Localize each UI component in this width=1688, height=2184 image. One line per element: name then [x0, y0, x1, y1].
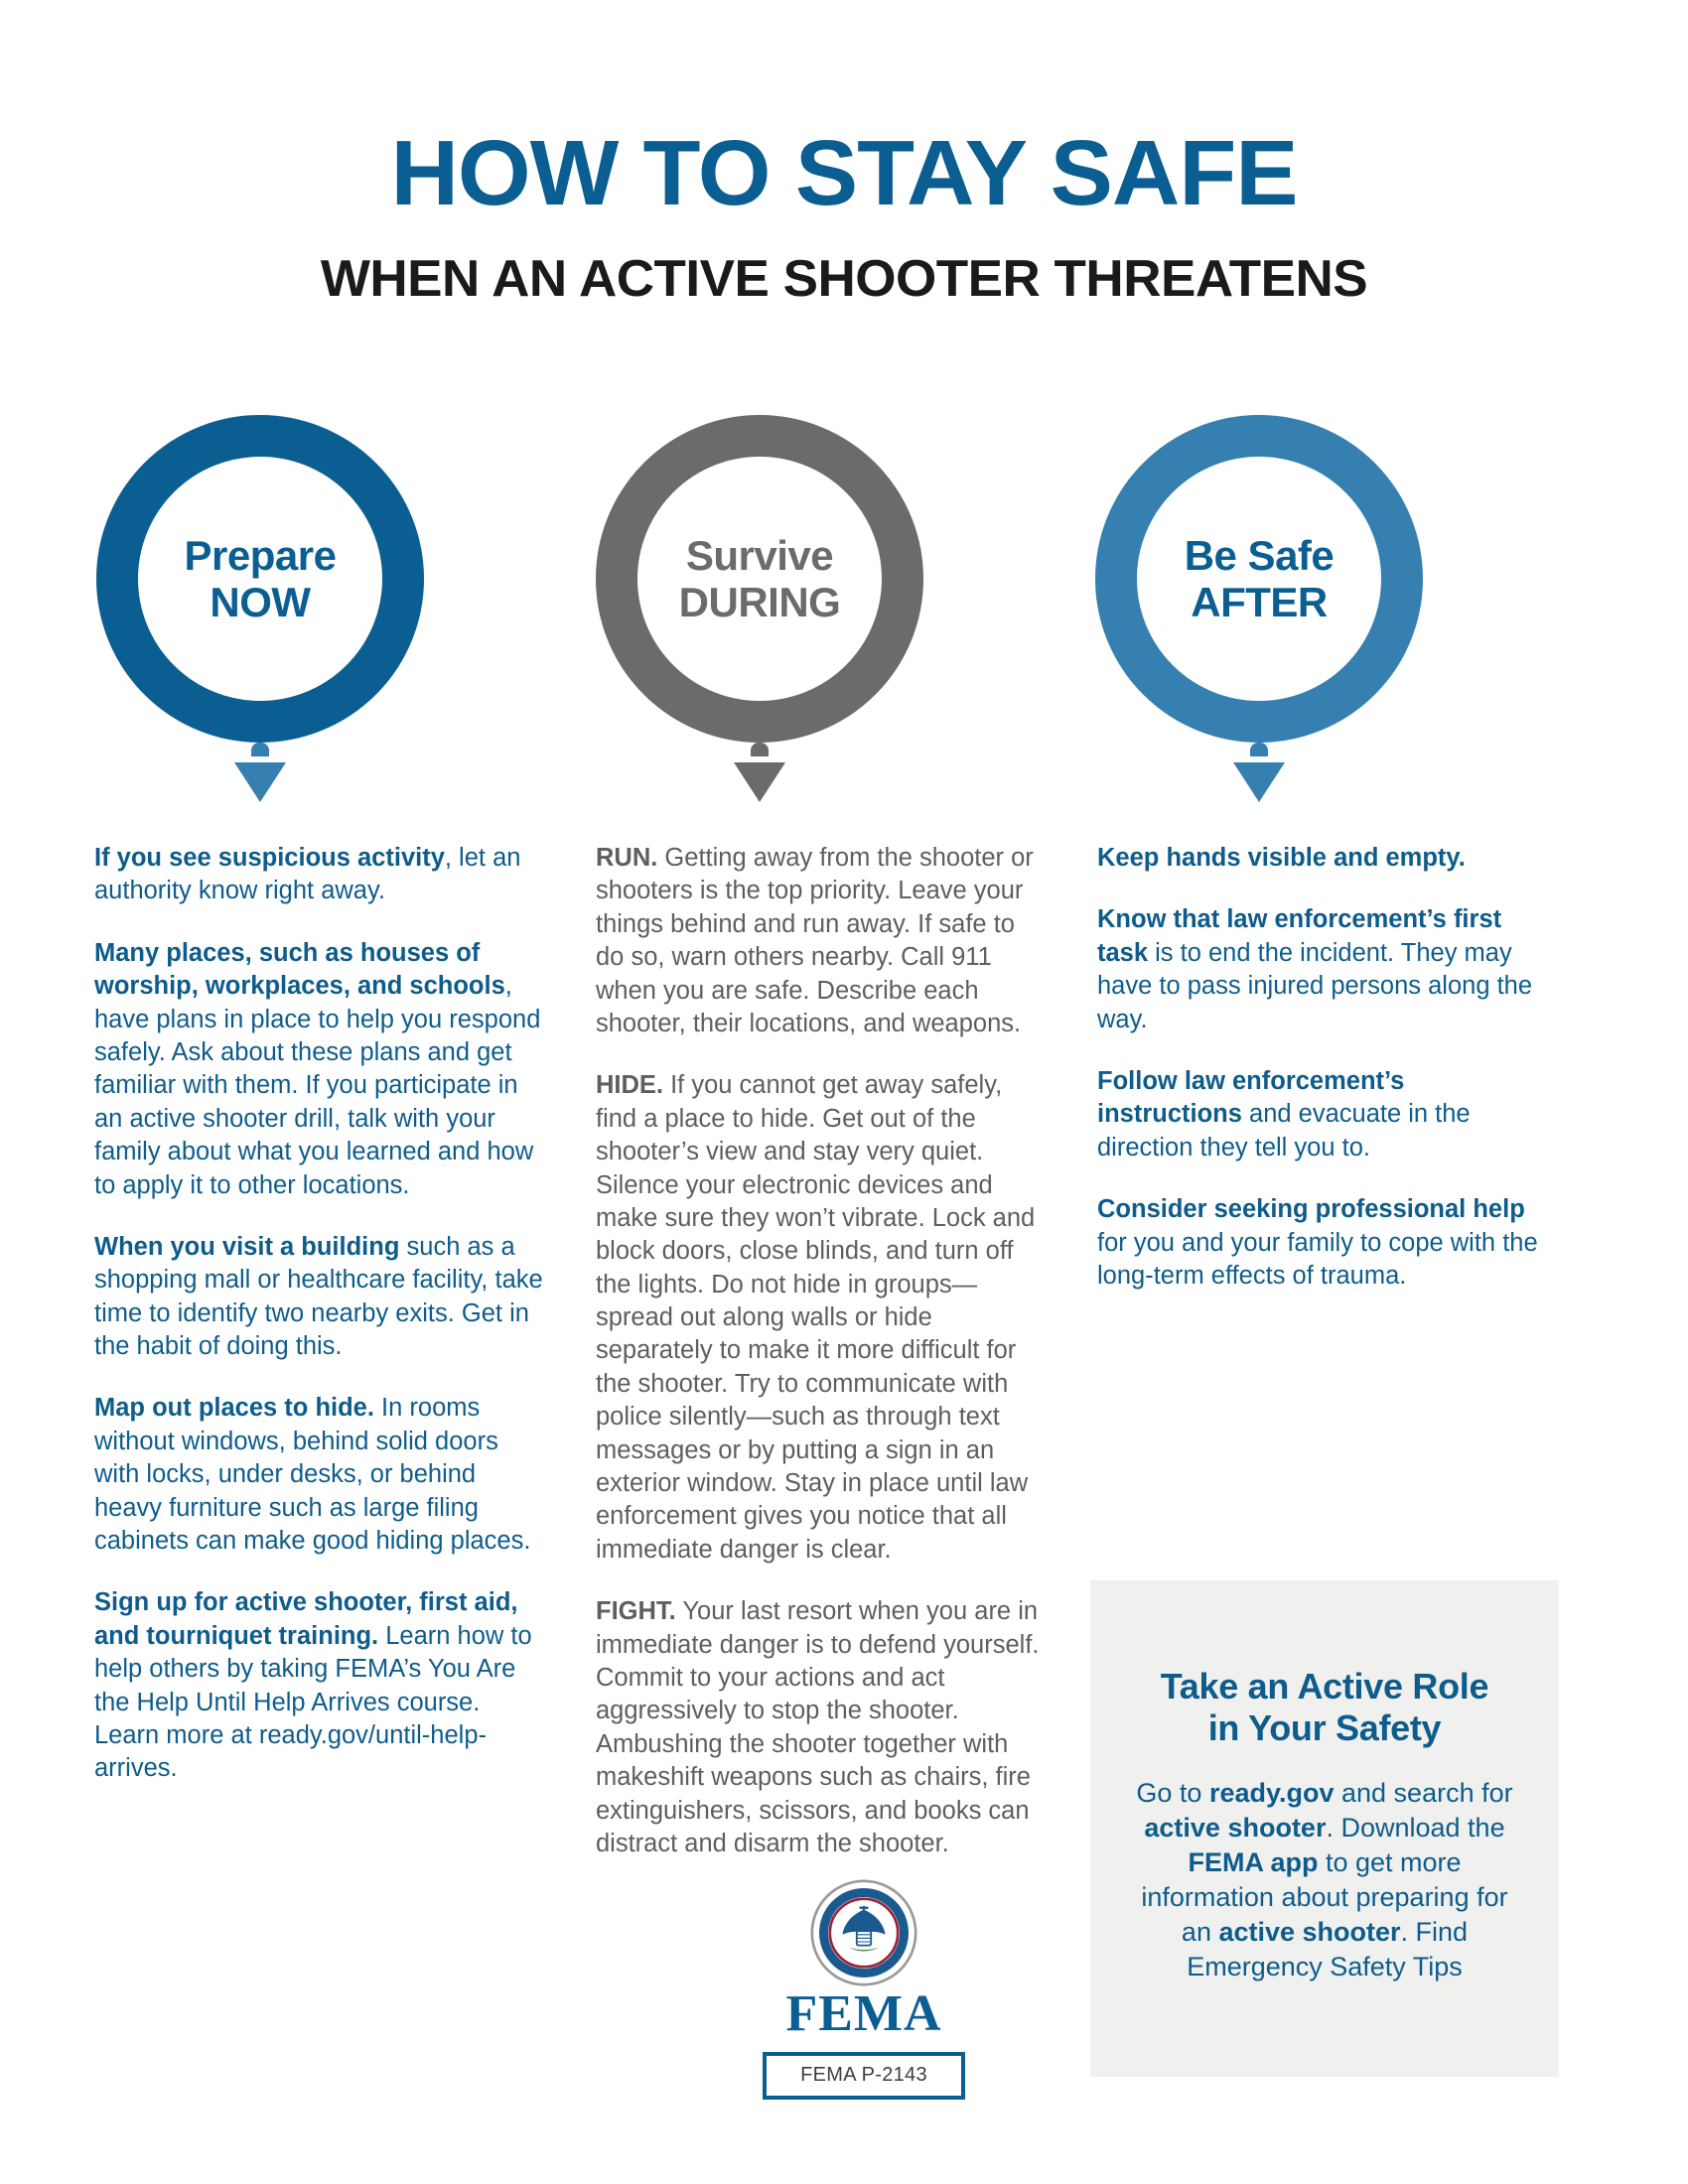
page-title: HOW TO STAY SAFE: [0, 127, 1688, 219]
paragraph: FIGHT. Your last resort when you are in …: [596, 1595, 1048, 1860]
fema-wordmark: FEMA: [695, 1988, 1033, 2040]
paragraph: When you visit a building such as a shop…: [94, 1231, 546, 1364]
stage-be-safe-after: Be Safe AFTER: [1090, 415, 1428, 802]
fema-logo-block: FEMA FEMA P-2143: [695, 1879, 1033, 2100]
callout-title-line2: in Your Safety: [1124, 1707, 1525, 1749]
callout-take-active-role: Take an Active Role in Your Safety Go to…: [1090, 1580, 1559, 2077]
paragraph: Map out places to hide. In rooms without…: [94, 1392, 546, 1558]
callout-body: Go to ready.gov and search for active sh…: [1124, 1776, 1525, 1985]
paragraph: Consider seeking professional help for y…: [1097, 1193, 1549, 1293]
page-subtitle: WHEN AN ACTIVE SHOOTER THREATENS: [0, 253, 1688, 305]
stage-circles-row: Prepare NOW Survive DURING Be Safe AFTER: [0, 415, 1688, 792]
paragraph: HIDE. If you cannot get away safely, fin…: [596, 1069, 1048, 1567]
callout-title-line1: Take an Active Role: [1161, 1666, 1488, 1706]
paragraph: Follow law enforcement’s instructions an…: [1097, 1065, 1549, 1164]
down-arrow-icon-prepare: [234, 762, 286, 802]
paragraph-lead: Many places, such as houses of worship, …: [94, 939, 505, 1000]
paragraph-lead: HIDE.: [596, 1071, 663, 1099]
circle-label-survive-line2: DURING: [679, 579, 841, 625]
circle-ring-besafe: Be Safe AFTER: [1095, 415, 1423, 743]
stage-prepare-now: Prepare NOW: [91, 415, 429, 802]
paragraph: If you see suspicious activity, let an a…: [94, 842, 546, 908]
paragraph-lead: If you see suspicious activity: [94, 844, 445, 872]
paragraph-lead: When you visit a building: [94, 1233, 399, 1261]
circle-label-prepare-line2: NOW: [185, 579, 337, 625]
paragraph-body: Your last resort when you are in immedia…: [596, 1597, 1040, 1857]
circle-ring-survive: Survive DURING: [596, 415, 923, 743]
paragraph-body: If you cannot get away safely, find a pl…: [596, 1071, 1035, 1563]
arrow-nub-prepare: [251, 743, 269, 756]
callout-emphasis: FEMA app: [1188, 1847, 1318, 1877]
callout-emphasis: ready.gov: [1209, 1778, 1335, 1808]
paragraph-lead: Keep hands visible and empty.: [1097, 844, 1466, 872]
paragraph: RUN. Getting away from the shooter or sh…: [596, 842, 1048, 1040]
paragraph-lead: Consider seeking professional help: [1097, 1195, 1525, 1223]
column-be-safe-after: Keep hands visible and empty.Know that l…: [1097, 842, 1549, 1321]
circle-ring-prepare: Prepare NOW: [96, 415, 424, 743]
column-survive-during: RUN. Getting away from the shooter or sh…: [596, 842, 1048, 1889]
callout-title: Take an Active Role in Your Safety: [1124, 1666, 1525, 1750]
circle-label-besafe-line1: Be Safe: [1185, 532, 1335, 579]
paragraph-lead: RUN.: [596, 844, 657, 872]
circle-label-besafe-line2: AFTER: [1185, 579, 1335, 625]
paragraph: Many places, such as houses of worship, …: [94, 937, 546, 1202]
paragraph-body: for you and your family to cope with the…: [1097, 1229, 1538, 1290]
callout-emphasis: active shooter: [1218, 1917, 1400, 1947]
arrow-nub-survive: [751, 743, 769, 756]
paragraph-body: , have plans in place to help you respon…: [94, 972, 540, 1198]
dhs-seal-icon: [810, 1879, 917, 1986]
paragraph: Sign up for active shooter, first aid, a…: [94, 1586, 546, 1785]
paragraph: Keep hands visible and empty.: [1097, 842, 1549, 875]
callout-text: and search for: [1335, 1778, 1513, 1808]
down-arrow-icon-besafe: [1233, 762, 1285, 802]
arrow-nub-besafe: [1250, 743, 1268, 756]
circle-label-survive-line1: Survive: [686, 532, 833, 579]
paragraph-body: Getting away from the shooter or shooter…: [596, 844, 1034, 1037]
circle-label-prepare: Prepare NOW: [185, 532, 337, 625]
paragraph-lead: Map out places to hide.: [94, 1394, 374, 1422]
stage-survive-during: Survive DURING: [591, 415, 928, 802]
paragraph: Know that law enforcement’s first task i…: [1097, 903, 1549, 1036]
circle-label-prepare-line1: Prepare: [185, 532, 337, 579]
paragraph-lead: FIGHT.: [596, 1597, 676, 1625]
down-arrow-icon-survive: [734, 762, 785, 802]
callout-text: . Download the: [1326, 1813, 1504, 1843]
paragraph-body: is to end the incident. They may have to…: [1097, 939, 1532, 1033]
column-prepare-now: If you see suspicious activity, let an a…: [94, 842, 546, 1815]
callout-text: Go to: [1136, 1778, 1209, 1808]
fema-publication-id: FEMA P-2143: [763, 2052, 965, 2100]
circle-label-survive: Survive DURING: [679, 532, 841, 625]
callout-emphasis: active shooter: [1144, 1813, 1326, 1843]
circle-label-besafe: Be Safe AFTER: [1185, 532, 1335, 625]
poster-header: HOW TO STAY SAFE WHEN AN ACTIVE SHOOTER …: [0, 127, 1688, 305]
